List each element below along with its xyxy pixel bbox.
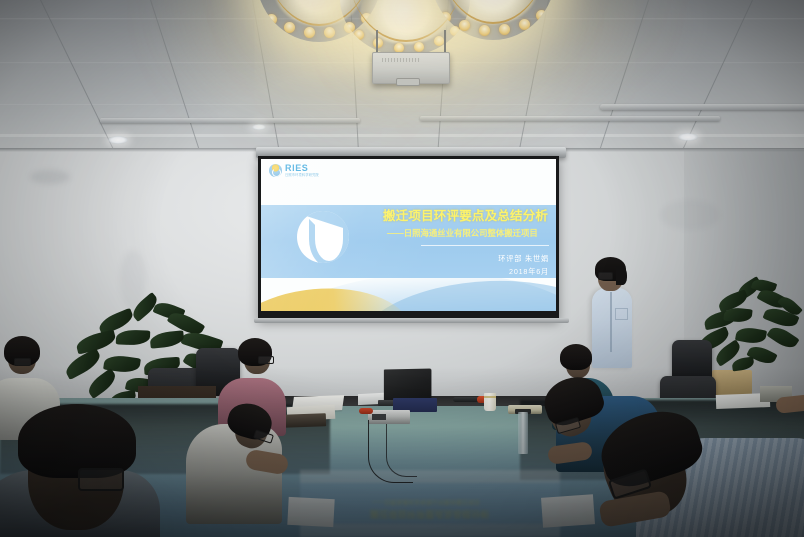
slide-emblem-icon (297, 211, 349, 263)
reflection-title: 搬迁项目环评要点及总结分析 (370, 508, 538, 521)
papers-foreground-left[interactable] (287, 497, 334, 527)
notebook[interactable] (282, 413, 326, 428)
slide-subtitle: ——日照海通丝业有限公司整体搬迁项目 (387, 227, 551, 239)
meeting-room-photo: RIES 日照市环境科学研究院 搬迁项目环评要点及总结分析 ——日照海通丝业有限… (0, 0, 804, 537)
presentation-slide: RIES 日照市环境科学研究院 搬迁项目环评要点及总结分析 ——日照海通丝业有限… (261, 159, 556, 311)
cable (386, 424, 417, 477)
presenter-glasses (598, 272, 613, 280)
cup-stripe (484, 396, 496, 398)
slide-presenter: 环评部 朱世娟 (411, 254, 549, 264)
presenter-hair-back (616, 266, 627, 285)
ceiling-downlight (678, 133, 698, 141)
projection-screen: RIES 日照市环境科学研究院 搬迁项目环评要点及总结分析 ——日照海通丝业有限… (258, 156, 559, 319)
shirt-placket (610, 292, 612, 352)
shirt-pocket (615, 308, 628, 320)
ries-logo-icon (269, 164, 282, 177)
ceiling-downlight (108, 136, 128, 144)
presenter-shirt (592, 288, 632, 368)
screen-bottom-bar (254, 318, 569, 323)
ceiling-downlight (252, 124, 266, 130)
logo-subtext: 日照市环境科学研究院 (285, 174, 319, 177)
papers-foreground-right[interactable] (541, 494, 595, 528)
slide-logo: RIES 日照市环境科学研究院 (269, 164, 319, 177)
reflection-subtitle: ——日照海通丝业有限公司整体搬迁项目 (372, 498, 536, 507)
slide-reflection: 搬迁项目环评要点及总结分析 ——日照海通丝业有限公司整体搬迁项目 (300, 470, 560, 537)
mic-stand-pole (518, 412, 528, 454)
slide-divider (421, 245, 549, 246)
microphone-left[interactable] (359, 408, 373, 414)
logo-name: RIES (285, 164, 319, 173)
slide-title: 搬迁项目环评要点及总结分析 (383, 205, 551, 224)
projector-lens (396, 78, 420, 86)
